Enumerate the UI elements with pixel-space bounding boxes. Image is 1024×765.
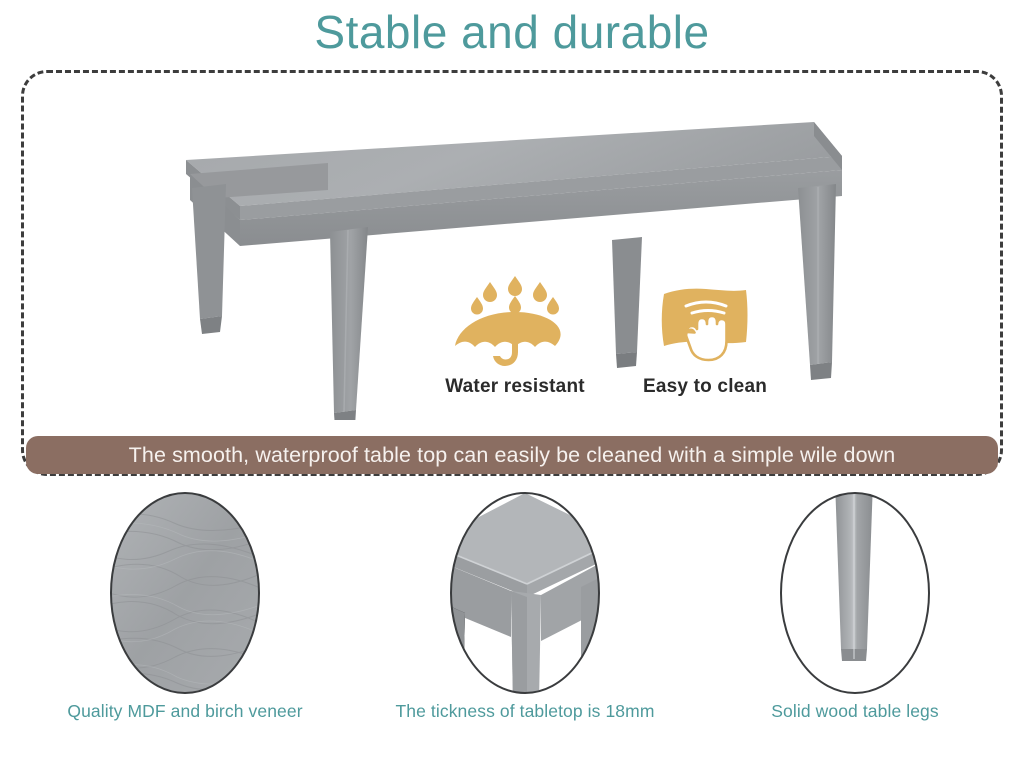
detail-caption: Solid wood table legs — [700, 701, 1010, 722]
detail-caption: The tickness of tabletop is 18mm — [370, 701, 680, 722]
detail-item-thickness: The tickness of tabletop is 18mm — [370, 491, 680, 722]
detail-caption: Quality MDF and birch veneer — [30, 701, 340, 722]
detail-item-veneer: Quality MDF and birch veneer — [30, 491, 340, 722]
umbrella-rain-icon — [430, 272, 600, 372]
benefit-easy-to-clean: Easy to clean — [620, 272, 790, 398]
benefit-water-resistant: Water resistant — [430, 272, 600, 398]
benefit-label: Easy to clean — [620, 376, 790, 398]
benefit-label: Water resistant — [430, 376, 600, 398]
wood-grain-tabletop-closeup — [109, 491, 261, 695]
caption-banner: The smooth, waterproof table top can eas… — [26, 436, 998, 474]
hand-wiping-cloth-icon — [620, 272, 790, 372]
tapered-table-leg-closeup — [779, 491, 931, 695]
caption-banner-text: The smooth, waterproof table top can eas… — [129, 443, 896, 468]
page-title: Stable and durable — [0, 4, 1024, 60]
table-corner-edge-closeup — [449, 491, 601, 695]
detail-item-legs: Solid wood table legs — [700, 491, 1010, 722]
